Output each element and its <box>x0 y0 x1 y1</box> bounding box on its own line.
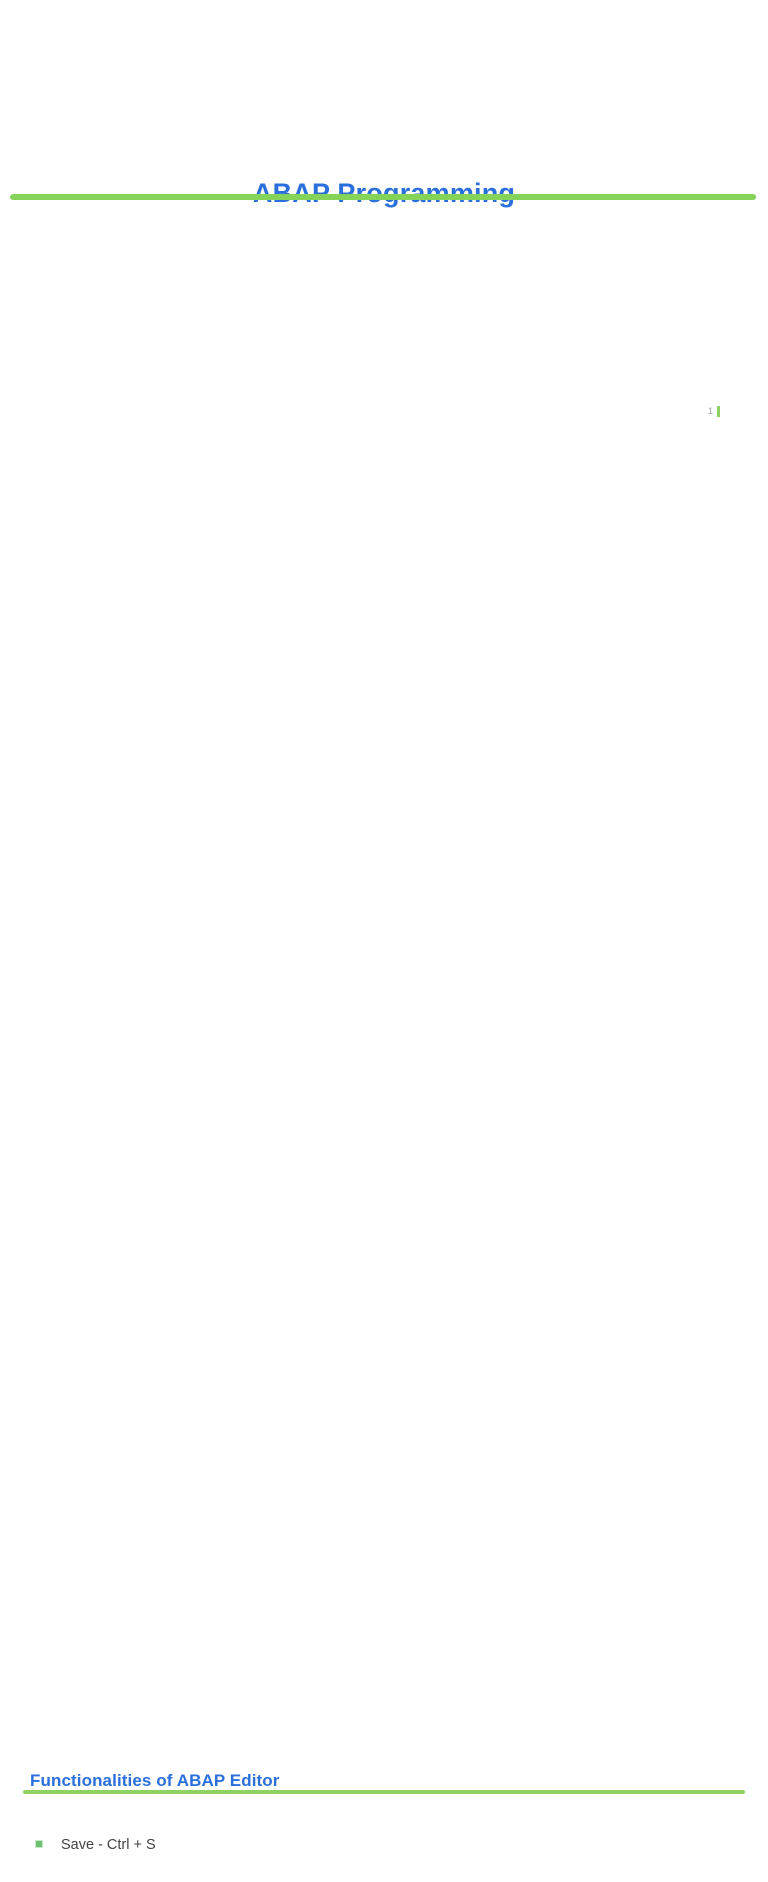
bullet-square-icon <box>35 1840 43 1848</box>
slide-introduction-to-abap-editor: Introduction to ABAP Editor ABAP editor … <box>0 432 768 864</box>
title-divider-rule <box>10 194 756 200</box>
page-footer-1: 1 <box>708 405 720 417</box>
slide-functionalities-of-abap-editor: Functionalities of ABAP Editor Save - Ct… <box>0 864 768 1296</box>
page-number: 1 <box>708 405 713 417</box>
list-item: Save - Ctrl + S <box>30 1835 738 1882</box>
slide-title-page: ABAP Programming 1 <box>0 0 768 432</box>
bullet-list-functionalities: Save - Ctrl + S <box>30 1835 738 1882</box>
page-marker-icon <box>717 406 720 417</box>
list-item-text: Save - Ctrl + S <box>61 1835 738 1855</box>
section-divider-rule-functionalities <box>23 1790 745 1794</box>
slide-document: ABAP Programming 1 Introduction to ABAP … <box>0 0 768 1024</box>
